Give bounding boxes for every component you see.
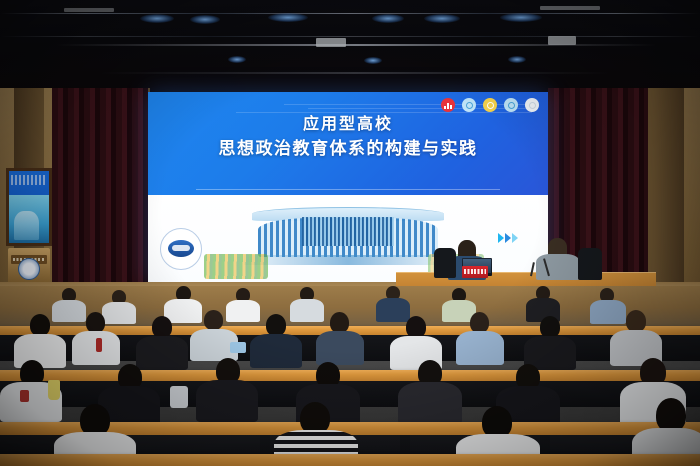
clock-icon <box>462 98 476 112</box>
blank-icon <box>525 98 539 112</box>
foliage-left <box>204 254 268 278</box>
ceiling-projector <box>316 38 346 47</box>
chair-back <box>434 248 456 278</box>
university-emblem <box>18 258 40 280</box>
slide-title-line2: 思想政治教育体系的构建与实践 <box>148 136 548 162</box>
ceiling-spotlight <box>424 14 460 23</box>
left-wall-screen <box>6 168 52 246</box>
ceiling-fixture <box>540 6 600 10</box>
cup <box>20 390 29 402</box>
university-emblem-mark <box>168 240 194 257</box>
attendee-torso <box>196 380 258 422</box>
left-screen-header <box>9 171 49 195</box>
attendee-head <box>470 312 489 333</box>
slide-title: 应用型高校 思想政治教育体系的构建与实践 <box>148 114 548 162</box>
thermos-bottle <box>48 380 60 400</box>
audience-area <box>0 286 700 466</box>
left-screen-building <box>14 211 39 240</box>
attendee-torso <box>226 300 260 322</box>
ceiling-downlight <box>228 56 246 63</box>
attendee-torso <box>250 334 302 368</box>
projection-screen: 应用型高校 思想政治教育体系的构建与实践 <box>148 92 548 282</box>
chair-back <box>578 248 602 280</box>
slide-streak <box>236 112 532 113</box>
ceiling-light-band-1 <box>0 13 700 14</box>
ceiling-spotlight <box>140 14 174 23</box>
left-screen-image <box>9 195 49 243</box>
campus-building-illustration <box>252 203 444 266</box>
ceiling-fixture <box>64 8 114 12</box>
attendee-torso <box>290 299 324 322</box>
attendee-torso <box>590 300 626 324</box>
university-emblem <box>160 228 202 270</box>
attendee-head <box>266 314 286 336</box>
attendee-head <box>540 316 560 338</box>
gear-icon <box>504 98 518 112</box>
ceiling-downlight <box>508 56 526 63</box>
slide-title-divider <box>196 189 500 190</box>
slide-header: 应用型高校 思想政治教育体系的构建与实践 <box>148 92 548 195</box>
cup <box>96 338 102 352</box>
attendee-torso <box>456 331 504 365</box>
attendee-head <box>86 312 105 333</box>
chair-row-3 <box>0 370 700 381</box>
attendee-torso <box>398 382 462 424</box>
attendee-head <box>330 312 349 333</box>
attendee-head <box>152 316 172 338</box>
slide-title-line1: 应用型高校 <box>148 114 548 136</box>
attendee-torso <box>316 331 364 365</box>
attendee-head <box>406 316 426 338</box>
bar-chart-icon <box>441 98 455 112</box>
ceiling-spotlight <box>500 13 542 22</box>
handbag <box>170 386 188 408</box>
attendee-torso <box>52 300 86 322</box>
ceiling-spotlight <box>268 13 308 22</box>
building-glass-panel <box>302 217 394 246</box>
chair-row-front <box>0 454 700 466</box>
building-base <box>244 255 451 265</box>
auditorium-photo: 应用型高校 思想政治教育体系的构建与实践 <box>0 0 700 466</box>
lectern <box>8 248 50 282</box>
attendee-head <box>30 314 50 336</box>
ceiling-downlight <box>364 57 382 64</box>
left-screen-header-text <box>11 175 47 185</box>
ceiling-spotlight <box>190 15 220 24</box>
attendee-head <box>656 398 686 432</box>
ceiling-fixture <box>548 36 576 45</box>
double-chevron-accent <box>498 233 518 243</box>
laptop-on-desk <box>230 342 246 353</box>
stage-curtain-left <box>52 88 148 288</box>
ceiling-spotlight <box>372 14 404 23</box>
attendee-head <box>626 310 646 332</box>
name-placard <box>462 266 488 278</box>
slide-icon-row <box>441 98 539 112</box>
attendee-torso <box>102 302 136 324</box>
ceiling <box>0 0 700 92</box>
search-icon <box>483 98 497 112</box>
attendee-head <box>204 310 223 330</box>
attendee-torso <box>376 298 410 322</box>
attendee-torso <box>136 336 188 370</box>
bar-chart-bars <box>444 102 451 109</box>
ceiling-light-band-2 <box>0 36 700 37</box>
ceiling-track-rail <box>100 72 610 74</box>
